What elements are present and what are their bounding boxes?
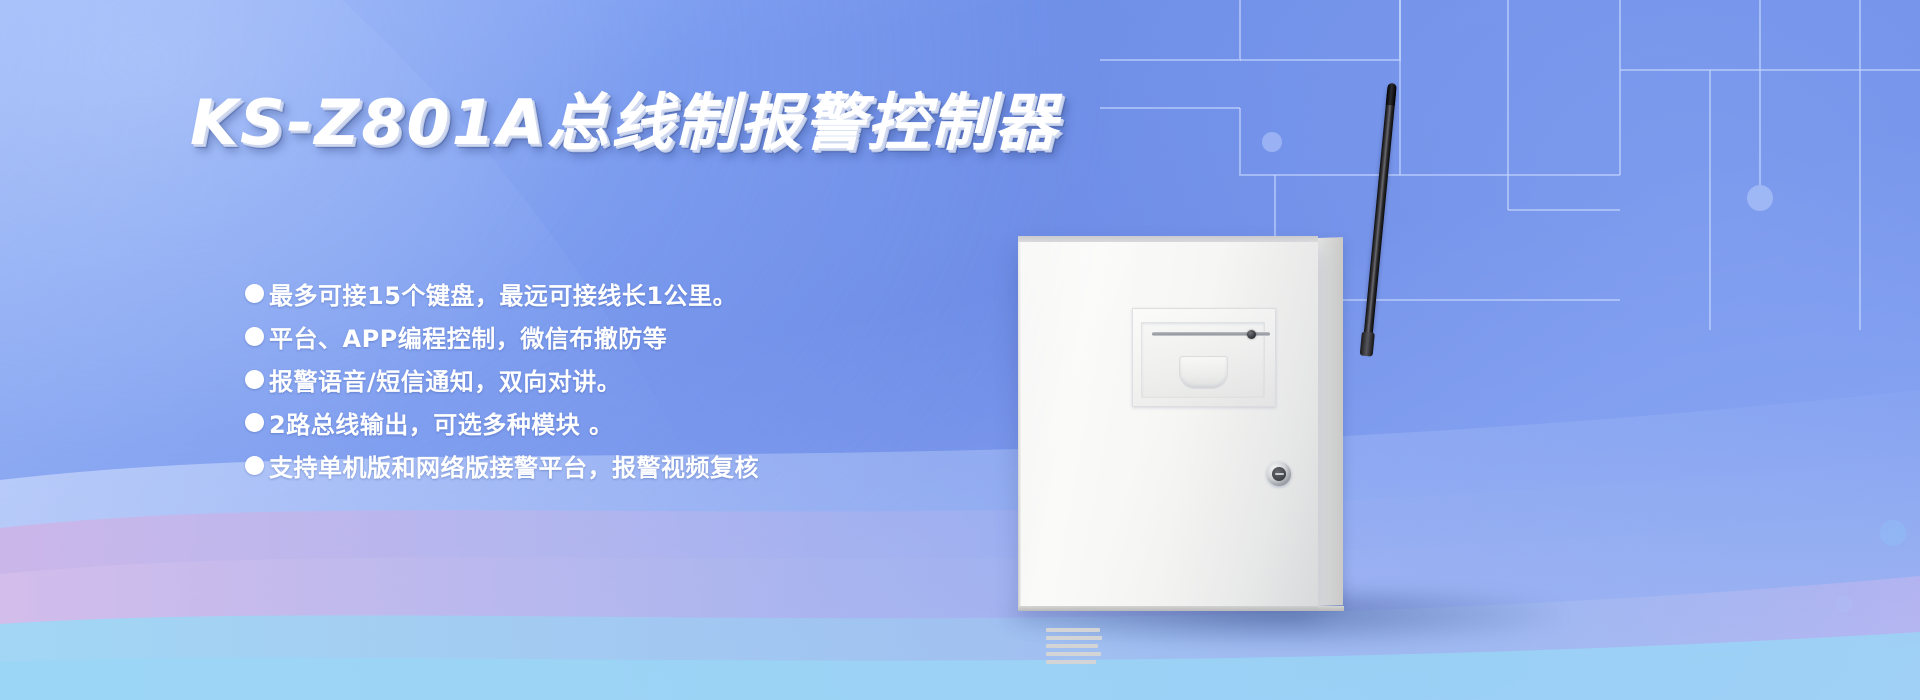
feature-text: 报警语音/短信通知，双向对讲。: [269, 362, 621, 397]
keypad-housing-inner: [1141, 322, 1265, 398]
feature-text: 最多可接15个键盘，最远可接线长1公里。: [269, 276, 737, 311]
vent-slat: [1046, 660, 1096, 664]
feature-list: 最多可接15个键盘，最远可接线长1公里。 平台、APP编程控制，微信布撤防等 报…: [245, 272, 1045, 487]
list-item: 报警语音/短信通知，双向对讲。: [245, 358, 1045, 401]
feature-text: 平台、APP编程控制，微信布撤防等: [269, 319, 667, 354]
filled-circle-bullet-icon: [245, 456, 264, 475]
list-item: 平台、APP编程控制，微信布撤防等: [245, 315, 1045, 358]
key-lock-slot: [1275, 473, 1284, 475]
vent-slat: [1046, 636, 1102, 640]
antenna-icon: [1362, 83, 1397, 353]
product-banner: KS-Z801A总线制报警控制器 最多可接15个键盘，最远可接线长1公里。 平台…: [0, 0, 1920, 700]
key-lock-icon: [1267, 462, 1291, 486]
product-image: [1010, 90, 1650, 650]
list-item: 最多可接15个键盘，最远可接线长1公里。: [245, 272, 1045, 315]
cabinet-front-face: [1018, 242, 1318, 610]
decorative-dot: [1880, 520, 1906, 546]
list-item: 支持单机版和网络版接警平台，报警视频复核: [245, 444, 1045, 487]
filled-circle-bullet-icon: [245, 284, 264, 303]
status-led-icon: [1247, 330, 1256, 339]
feature-text: 支持单机版和网络版接警平台，报警视频复核: [269, 448, 759, 483]
door-handle: [1179, 356, 1228, 389]
vent-slat: [1046, 644, 1098, 648]
vent-slat: [1046, 628, 1100, 632]
keypad-housing: [1132, 308, 1276, 407]
filled-circle-bullet-icon: [245, 370, 264, 389]
page-title: KS-Z801A总线制报警控制器: [190, 72, 1059, 162]
filled-circle-bullet-icon: [245, 327, 264, 346]
feature-text: 2路总线输出，可选多种模块 。: [269, 405, 614, 440]
vent-slat: [1046, 652, 1101, 656]
cabinet-left-edge: [1018, 242, 1021, 610]
cabinet-bottom-edge: [1018, 606, 1344, 611]
list-item: 2路总线输出，可选多种模块 。: [245, 401, 1045, 444]
decorative-dot: [1836, 596, 1852, 612]
antenna-base: [1360, 331, 1375, 356]
filled-circle-bullet-icon: [245, 413, 264, 432]
antenna-tip: [1386, 83, 1397, 106]
ventilation-slots: [1046, 628, 1104, 666]
cabinet-side-panel: [1317, 237, 1343, 606]
